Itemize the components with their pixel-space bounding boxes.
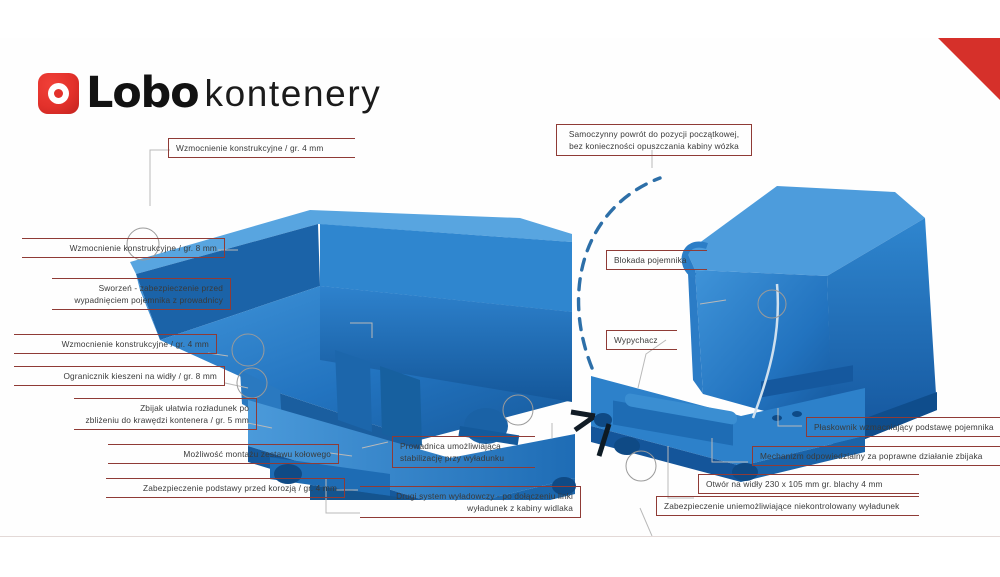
callout-blokada-pojemnika[interactable]: Blokada pojemnika — [606, 250, 707, 270]
brand-name-bold: Lobo — [86, 72, 198, 115]
slide-root: Lobo kontenery — [0, 0, 1000, 577]
callout-sworzen[interactable]: Sworzeń - zabezpieczenie przed wypadnięc… — [52, 278, 231, 310]
callout-samoczynny-powrot[interactable]: Samoczynny powrót do pozycji początkowej… — [556, 124, 752, 156]
diagonal-stripe-decoration-1 — [0, 436, 66, 536]
brand-logo[interactable]: Lobo kontenery — [38, 72, 381, 115]
corner-triangle-decoration — [938, 38, 1000, 100]
callout-niekontrolowany-wyladunek[interactable]: Zabezpieczenie uniemożliwiające niekontr… — [656, 496, 919, 516]
callout-korozja[interactable]: Zabezpieczenie podstawy przed korozją / … — [106, 478, 345, 498]
slide-canvas: Lobo kontenery — [0, 38, 1000, 536]
callout-wzmocnienie-4mm-top[interactable]: Wzmocnienie konstrukcyjne / gr. 4 mm — [168, 138, 355, 158]
callout-prowadnica[interactable]: Prowadnica umożliwiająca stabilizację pr… — [392, 436, 535, 468]
callout-wzmocnienie-4mm-mid[interactable]: Wzmocnienie konstrukcyjne / gr. 4 mm — [14, 334, 217, 354]
callout-wypychacz[interactable]: Wypychacz — [606, 330, 677, 350]
callout-zestaw-kolowy[interactable]: Możliwość montażu zestawu kołowego — [108, 444, 339, 464]
callout-zbijak[interactable]: Zbijak ułatwia rozładunek po zbliżeniu d… — [74, 398, 257, 430]
slide-bottom-rule — [0, 536, 1000, 537]
callout-wzmocnienie-8mm[interactable]: Wzmocnienie konstrukcyjne / gr. 8 mm — [22, 238, 225, 258]
callout-drugi-system[interactable]: Drugi system wyładowczy - po dołączeniu … — [360, 486, 581, 518]
callout-plaskownik[interactable]: Płaskownik wzmacniający podstawę pojemni… — [806, 417, 1000, 437]
brand-name-light: kontenery — [204, 75, 381, 112]
callout-otwor-na-widly[interactable]: Otwór na widły 230 x 105 mm gr. blachy 4… — [698, 474, 919, 494]
logo-ring — [48, 83, 69, 104]
logo-dot — [54, 89, 63, 98]
target-dot-icon — [38, 73, 79, 114]
callout-mechanizm-zbijaka[interactable]: Mechanizm odpowiedzialny za poprawne dzi… — [752, 446, 1000, 466]
callout-ogranicznik-kieszeni[interactable]: Ogranicznik kieszeni na widły / gr. 8 mm — [14, 366, 225, 386]
